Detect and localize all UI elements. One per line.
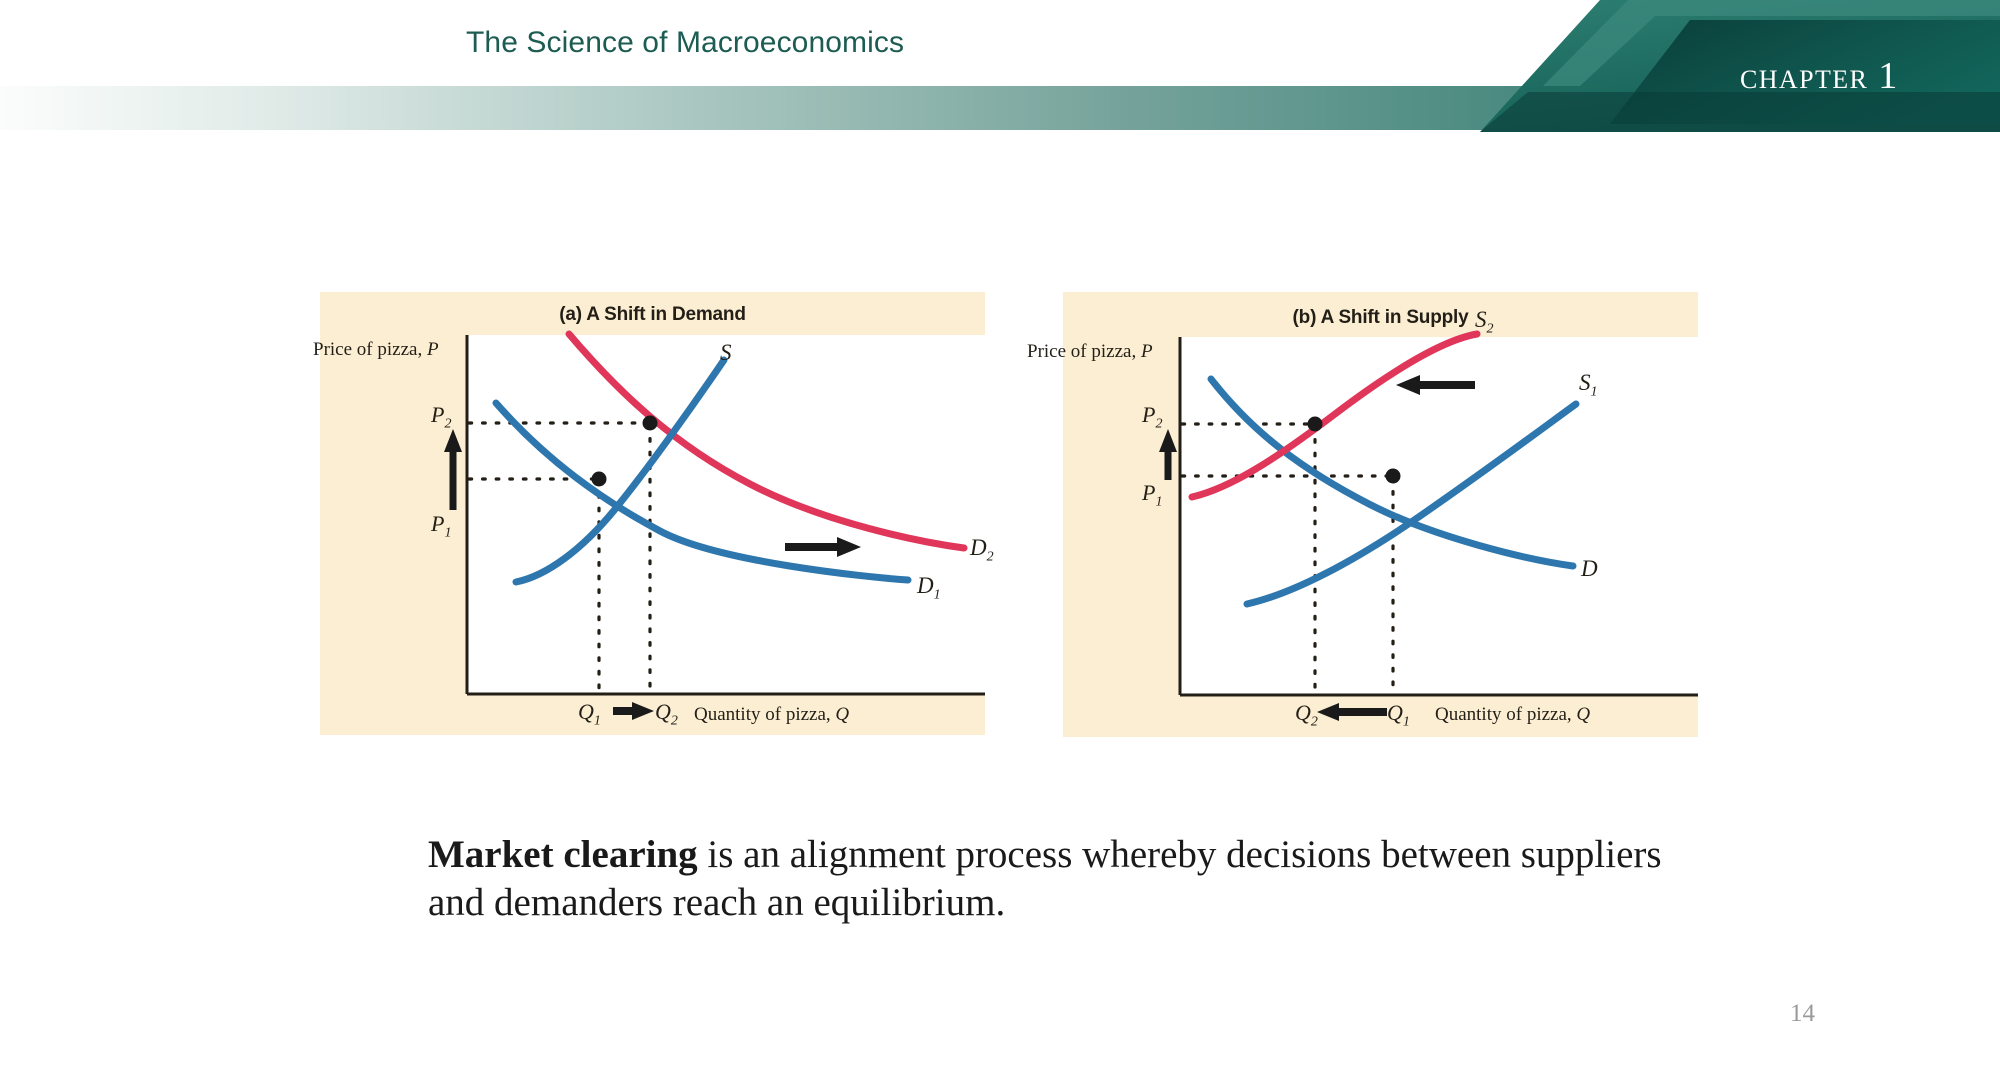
panel-b-equilibrium-point-1 — [1386, 469, 1401, 484]
panel-b-tick-p1: P1 — [1142, 480, 1162, 510]
header-shadow-slab — [1480, 92, 2000, 132]
chapter-indicator: CHAPTER1 — [1740, 54, 1897, 98]
panel-b-x-axis-label: Quantity of pizza, Q — [1435, 704, 1590, 726]
panel-b-label-s2: S2 — [1475, 307, 1494, 338]
panel-a-price-rise-arrow — [444, 429, 462, 510]
panel-a-curve-d1 — [496, 403, 908, 580]
panel-b-curve-s1 — [1247, 404, 1576, 604]
figure-panel-b-shift-in-supply: (b) A Shift in Supply — [1063, 292, 1698, 737]
panel-b-equilibrium-point-2 — [1308, 417, 1323, 432]
definition-term: Market clearing — [428, 833, 698, 876]
panel-a-demand-shift-arrow — [785, 537, 861, 557]
panel-a-tick-p2: P2 — [431, 402, 451, 432]
panel-b-y-axis-label: Price of pizza, P — [1027, 341, 1153, 363]
figure-panel-a-shift-in-demand: (a) A Shift in Demand — [320, 292, 985, 735]
panel-b-tick-q1: Q1 — [1387, 700, 1410, 730]
panel-b-chart-graphic — [1063, 292, 1698, 737]
header-banner-graphic — [0, 0, 2000, 132]
panel-a-y-axis-label: Price of pizza, P — [313, 339, 439, 361]
panel-a-label-d2: D2 — [970, 535, 994, 566]
panel-b-label-d: D — [1581, 556, 1598, 582]
slide-header: The Science of Macroeconomics CHAPTER1 — [0, 0, 2000, 132]
chapter-label: CHAPTER — [1740, 65, 1868, 94]
panel-a-tick-p1: P1 — [431, 511, 451, 541]
header-gradient-band — [0, 86, 1560, 130]
panel-b-price-rise-arrow — [1159, 429, 1177, 480]
panel-a-equilibrium-point-2 — [643, 416, 658, 431]
panel-a-tick-q2: Q2 — [655, 699, 678, 729]
panel-b-quantity-shift-arrow — [1317, 703, 1387, 721]
panel-a-label-d1: D1 — [917, 573, 941, 604]
panel-b-tick-p2: P2 — [1142, 402, 1162, 432]
panel-b-supply-shift-arrow — [1396, 375, 1475, 395]
panel-b-curve-s2 — [1192, 334, 1477, 497]
panel-a-tick-q1: Q1 — [578, 699, 601, 729]
panel-a-quantity-shift-arrow — [613, 702, 654, 720]
page-title: The Science of Macroeconomics — [466, 26, 904, 60]
definition-text: Market clearing is an alignment process … — [428, 831, 1678, 927]
panel-b-label-s1: S1 — [1579, 370, 1598, 401]
chapter-number: 1 — [1878, 55, 1897, 97]
panel-a-label-s: S — [720, 340, 732, 366]
panel-a-equilibrium-point-1 — [592, 472, 607, 487]
panel-a-x-axis-label: Quantity of pizza, Q — [694, 704, 849, 726]
page-number: 14 — [1790, 1000, 1815, 1028]
panel-b-tick-q2: Q2 — [1295, 700, 1318, 730]
